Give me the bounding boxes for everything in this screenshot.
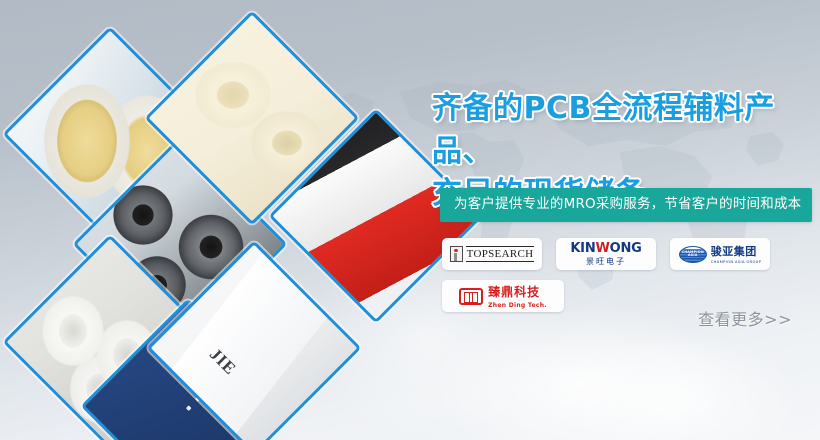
promo-banner: JIE 齐备的PCB全流程辅料产品、 充足的现货储备 为客户提供专业的MRO采购… <box>0 0 820 440</box>
partner-logo-zhen-ding[interactable]: 臻鼎科技 Zhen Ding Tech. <box>442 280 564 312</box>
kinwong-name-mid: W <box>596 241 610 256</box>
kinwong-name-start: KIN <box>570 241 595 256</box>
champion-asia-name-en: CHAMPION ASIA GROUP <box>711 261 762 265</box>
view-more-link[interactable]: 查看更多>> <box>698 312 792 328</box>
zhen-ding-name-en: Zhen Ding Tech. <box>488 303 547 309</box>
champion-asia-name-cn: 骏亚集团 <box>711 245 757 258</box>
partner-logo-champion-asia[interactable]: 骏亚集团 CHAMPION ASIA GROUP <box>670 238 770 270</box>
product-collage: JIE <box>0 0 430 440</box>
kinwong-name-end: ONG <box>610 241 642 256</box>
banner-content: 齐备的PCB全流程辅料产品、 充足的现货储备 为客户提供专业的MRO采购服务，节… <box>428 0 820 440</box>
topsearch-mark-icon <box>450 246 463 262</box>
globe-icon <box>679 246 707 263</box>
partner-logo-row: 臻鼎科技 Zhen Ding Tech. <box>442 280 814 312</box>
zhending-mark-icon <box>459 288 483 305</box>
partner-logo-topsearch[interactable]: TOPSEARCH <box>442 238 542 270</box>
topsearch-wordmark: TOPSEARCH <box>466 246 535 262</box>
partner-logo-row: TOPSEARCH KINWONG 景旺电子 骏亚集团 CHAMPION ASI <box>442 238 814 270</box>
zhen-ding-name-cn: 臻鼎科技 <box>488 285 540 299</box>
kinwong-name-cn: 景旺电子 <box>570 258 641 266</box>
banner-subtitle-text: 为客户提供专业的MRO采购服务，节省客户的时间和成本 <box>440 198 801 212</box>
partner-logo-kinwong[interactable]: KINWONG 景旺电子 <box>556 238 656 270</box>
banner-subtitle-bar: 为客户提供专业的MRO采购服务，节省客户的时间和成本 <box>440 188 812 222</box>
kinwong-wordmark: KINWONG <box>570 242 641 255</box>
